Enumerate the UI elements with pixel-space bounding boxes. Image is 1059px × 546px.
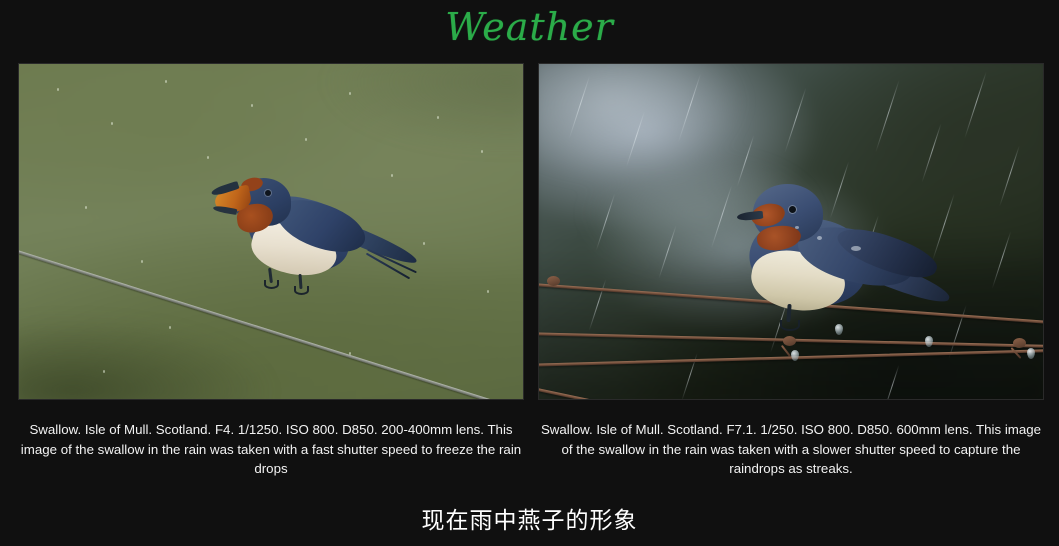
photo-caption-right: Swallow. Isle of Mull. Scotland. F7.1. 1… xyxy=(537,420,1045,479)
wet-feather-sheen xyxy=(795,226,799,229)
swallow-foot xyxy=(264,280,279,289)
chinese-subtitle: 现在雨中燕子的形象 xyxy=(0,505,1059,537)
raindrop-speck xyxy=(251,104,253,107)
wet-feather-sheen xyxy=(817,236,822,240)
raindrop-speck xyxy=(437,116,439,119)
swallow-foot xyxy=(780,320,800,331)
raindrop-speck xyxy=(349,92,351,95)
wet-feather-sheen xyxy=(851,246,861,251)
raindrop-speck xyxy=(305,138,307,141)
barn-swallow-right xyxy=(725,174,955,354)
swallow-eye xyxy=(265,190,271,196)
barn-swallow-left xyxy=(207,164,417,324)
photo-left-scene xyxy=(19,64,523,399)
raindrop-speck xyxy=(111,122,113,125)
swallow-foot xyxy=(294,286,309,295)
barbed-wire-knot xyxy=(547,276,560,286)
raindrop-speck xyxy=(487,290,489,293)
raindrop-speck xyxy=(207,156,209,159)
photo-caption-left: Swallow. Isle of Mull. Scotland. F4. 1/1… xyxy=(17,420,525,479)
presentation-slide: Weather xyxy=(0,0,1059,546)
raindrop-speck xyxy=(85,206,87,209)
raindrop-speck xyxy=(169,326,171,329)
swallow-eye xyxy=(789,206,796,213)
raindrop-speck xyxy=(103,370,105,373)
raindrop-speck xyxy=(165,80,167,83)
page-title: Weather xyxy=(0,2,1059,52)
raindrop-speck xyxy=(481,150,483,153)
raindrop-speck xyxy=(57,88,59,91)
raindrop-speck xyxy=(423,242,425,245)
raindrop-speck xyxy=(141,260,143,263)
barbed-wire-knot xyxy=(1013,338,1026,348)
photo-swallow-slow-shutter xyxy=(538,63,1044,400)
photo-right-scene xyxy=(539,64,1043,399)
photo-swallow-fast-shutter xyxy=(18,63,524,400)
